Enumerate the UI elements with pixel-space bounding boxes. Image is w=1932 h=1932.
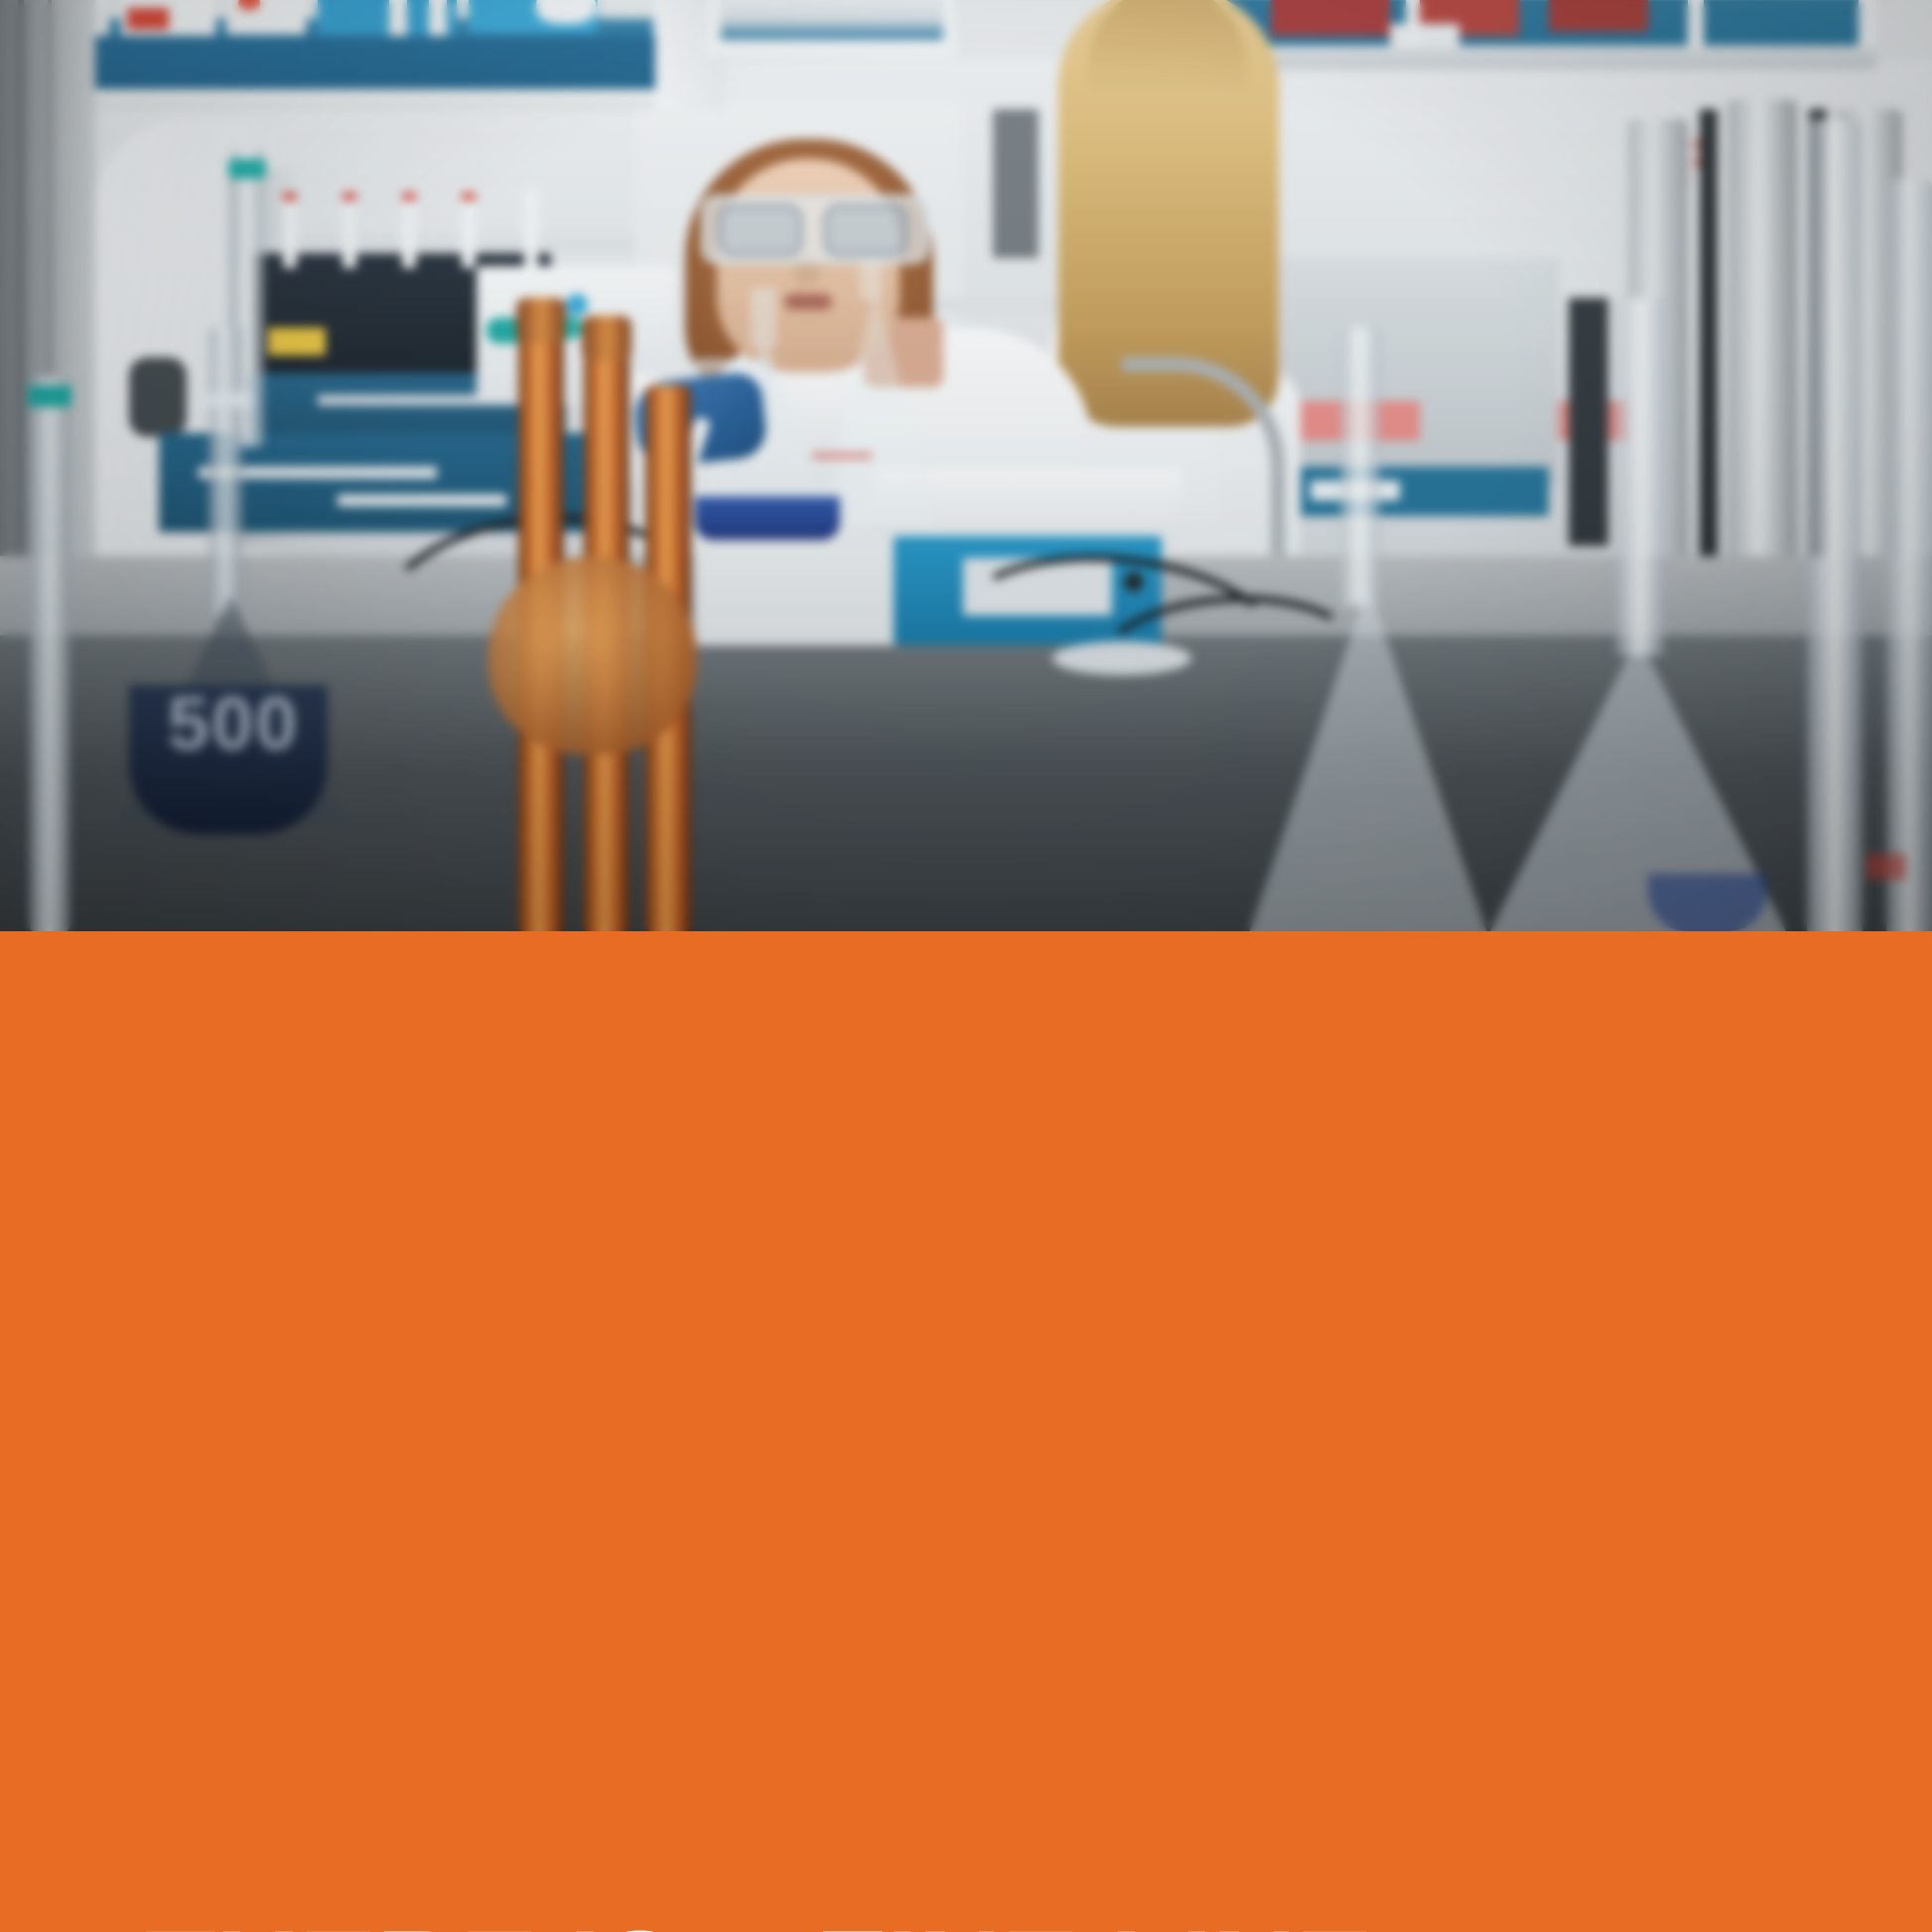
autosampler-needle: [524, 189, 538, 268]
shelf-box-red-label: [127, 8, 169, 30]
cabinet-right-band: [1181, 48, 1876, 69]
erlenmeyer-flask-blue-neck: [751, 288, 776, 347]
copy-panel: THERE IS A FINE LINE BETWEEN PASSION AND…: [0, 931, 1932, 1932]
autosampler-vial-4: [462, 199, 476, 268]
volumetric-flask-neck: [208, 328, 242, 616]
scientist-left-hand: [129, 357, 187, 437]
eyeglass-lens-left: [719, 205, 802, 256]
instrument-panel-2: [338, 494, 506, 506]
cabinet-left-shelf-edge: [87, 89, 673, 109]
shelf-box-white-right: [1390, 24, 1459, 48]
volumetric-flask-volume-label: 500: [149, 685, 318, 764]
instrument-yellow-label: [268, 328, 326, 355]
foreground-cylinder-left-cap: [28, 385, 71, 407]
foreground-flask-blue-liquid: [1648, 874, 1767, 931]
equipment-rack-right: [1281, 258, 1559, 486]
rack-dark-column: [1569, 298, 1608, 546]
foreground-red-marking: [1866, 854, 1906, 880]
scientist-standing-hair-top: [1088, 0, 1247, 95]
autosampler-vial-1: [283, 199, 297, 268]
shelf-binder-red-3: [1549, 0, 1648, 32]
volumetric-flask-ring: [197, 392, 254, 408]
autosampler-vial-cap-2: [343, 193, 356, 201]
shelf-binder-red-1: [1271, 0, 1390, 36]
promo-card: 500 THERE IS A FINE LINE BETWEEN PASSION…: [0, 0, 1932, 1932]
amber-burette-cap-1: [516, 298, 566, 344]
blue-liquid-sample: [695, 496, 840, 540]
hero-photo-laboratory: 500: [0, 0, 1932, 931]
autosampler-vial-cap-3: [402, 193, 416, 201]
glass-cylinder-2: [1727, 99, 1797, 556]
amber-flask-bulb: [488, 556, 697, 755]
foreground-cylinder-left: [30, 377, 69, 931]
amber-burette-cap-2: [582, 316, 631, 361]
foreground-cylinder-left-2-cap: [228, 159, 266, 179]
autosampler-vial-cap-4: [462, 193, 476, 201]
foreground-flask-right-2-neck: [1616, 298, 1664, 655]
page-title: THERE IS A FINE LINE BETWEEN PASSION AND…: [145, 1925, 1694, 1932]
foreground-flask-right-neck: [1340, 328, 1380, 606]
erlenmeyer-flask-right-neck: [860, 260, 882, 300]
autosampler-vial-cap-1: [283, 193, 297, 201]
doorway-groove-1: [18, 0, 24, 586]
autosampler-vial-2: [343, 199, 356, 268]
foreground-flask-right: [1249, 586, 1487, 931]
instrument-display-strip: [318, 395, 496, 405]
shelf-jar-white: [536, 0, 596, 24]
shelf-box-red-cap: [238, 0, 260, 10]
column-shadow-1: [1700, 109, 1718, 556]
instrument-indicator-blue: [566, 294, 588, 316]
cabinet-mid-glass: [721, 0, 943, 40]
wall-switch-panel: [993, 109, 1038, 258]
cabinet-left-blue-band: [95, 36, 667, 89]
foreground-cylinder-right-1: [1807, 119, 1863, 931]
autosampler-vial-3: [402, 199, 416, 268]
eyeglass-lens-right: [824, 205, 907, 256]
foreground-cylinder-right-2: [1886, 179, 1932, 931]
